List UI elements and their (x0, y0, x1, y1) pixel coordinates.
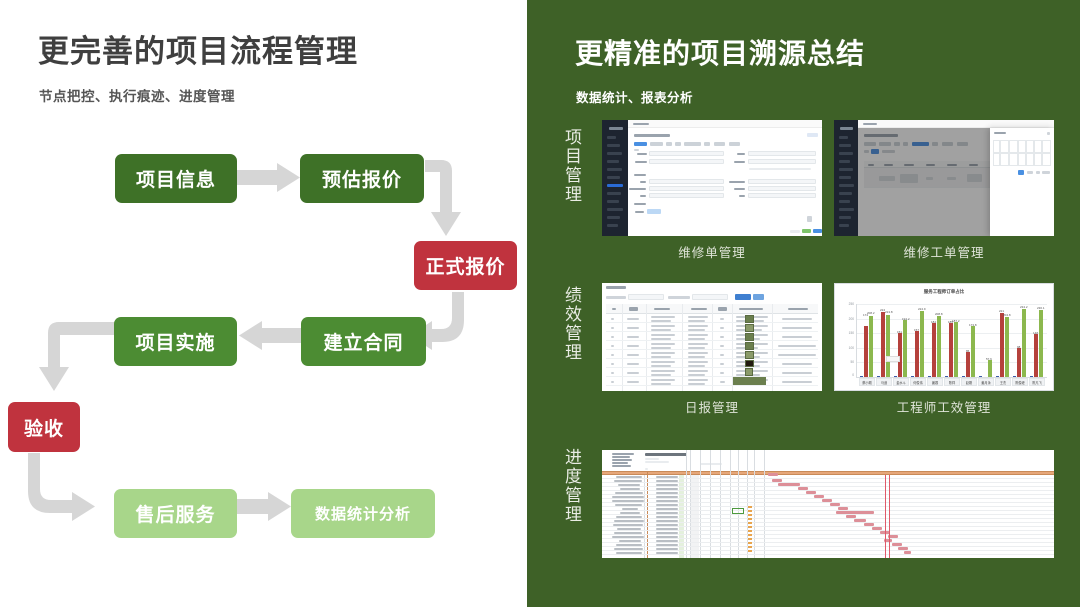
x-tick-label: 姜月永 (978, 380, 994, 385)
thumbnail-image (745, 324, 754, 332)
slide-root: 更完善的项目流程管理 节点把控、执行痕迹、进度管理 (0, 0, 1080, 607)
caption-engineer-efficiency: 工程师工效管理 (834, 397, 1054, 416)
app-topbar (628, 120, 822, 128)
section-label-performance-management: 绩效管理 (559, 286, 581, 362)
flow-node-project-info[interactable]: 项目信息 (115, 154, 237, 203)
x-tick-label: 姜蓉 (927, 380, 943, 385)
section-label-progress-management: 进度管理 (559, 448, 581, 524)
chart-plot-area: 174 208.2 224 213.8 151 194.2 157 (858, 304, 1046, 377)
x-tick-label: 马迪 (876, 380, 892, 385)
caption-repair-order-form: 维修单管理 (602, 242, 822, 261)
right-page-subtitle: 数据统计、报表分析 (576, 87, 693, 106)
left-panel: 更完善的项目流程管理 节点把控、执行痕迹、进度管理 (0, 0, 527, 607)
x-tick-label: 王杰 (995, 380, 1011, 385)
app-topbar (858, 120, 1054, 128)
flow-node-estimated-quote[interactable]: 预估报价 (300, 154, 424, 203)
flow-node-create-contract[interactable]: 建立合同 (301, 317, 426, 366)
chart-title: 服务工程师订单占比 (835, 289, 1053, 295)
section-label-project-management: 项目管理 (559, 128, 581, 204)
thumbnail-image (745, 368, 753, 376)
flow-arrows (0, 120, 527, 560)
modal-backdrop (858, 128, 990, 236)
thumbnail-image (745, 360, 754, 367)
x-tick-label: 陈俊峰 (1012, 380, 1028, 385)
thumbnail-image (745, 351, 754, 359)
caption-daily-report: 日报管理 (602, 397, 822, 416)
caption-repair-work-order: 维修工单管理 (834, 242, 1054, 261)
flow-node-acceptance[interactable]: 验收 (8, 402, 80, 452)
flow-node-formal-quote[interactable]: 正式报价 (414, 241, 517, 290)
flow-node-project-execution[interactable]: 项目实施 (114, 317, 237, 366)
x-tick-label: 金水斗 (893, 380, 909, 385)
x-tick-label: 陈凡飞 (1029, 380, 1045, 385)
thumbnail-image-wide (733, 377, 766, 385)
left-page-title: 更完善的项目流程管理 (38, 26, 358, 71)
screenshot-repair-order-form[interactable] (602, 120, 822, 236)
right-panel: 更精准的项目溯源总结 数据统计、报表分析 项目管理 绩效管理 进度管理 (527, 0, 1080, 607)
app-sidebar (602, 120, 628, 236)
screenshot-gantt-schedule[interactable] (602, 450, 1054, 558)
flow-node-after-sales[interactable]: 售后服务 (114, 489, 237, 538)
left-page-subtitle: 节点把控、执行痕迹、进度管理 (39, 85, 235, 105)
x-tick-label: 蔡小刚 (859, 380, 875, 385)
x-tick-label: 何俊伟 (910, 380, 926, 385)
thumbnail-image (745, 342, 754, 350)
flow-node-data-analysis[interactable]: 数据统计分析 (291, 489, 435, 538)
right-page-title: 更精准的项目溯源总结 (575, 32, 865, 72)
x-tick-label: 陈祥 (944, 380, 960, 385)
app-sidebar (834, 120, 858, 236)
x-tick-label: 赵刚 (961, 380, 977, 385)
thumbnail-image (745, 315, 754, 323)
thumbnail-image (745, 333, 754, 341)
screenshot-daily-report-table[interactable] (602, 283, 822, 391)
side-modal[interactable] (990, 128, 1054, 236)
screenshot-repair-work-order[interactable] (834, 120, 1054, 236)
screenshot-engineer-efficiency-chart[interactable]: 服务工程师订单占比 250 200 150 100 50 0 174 (834, 283, 1054, 391)
